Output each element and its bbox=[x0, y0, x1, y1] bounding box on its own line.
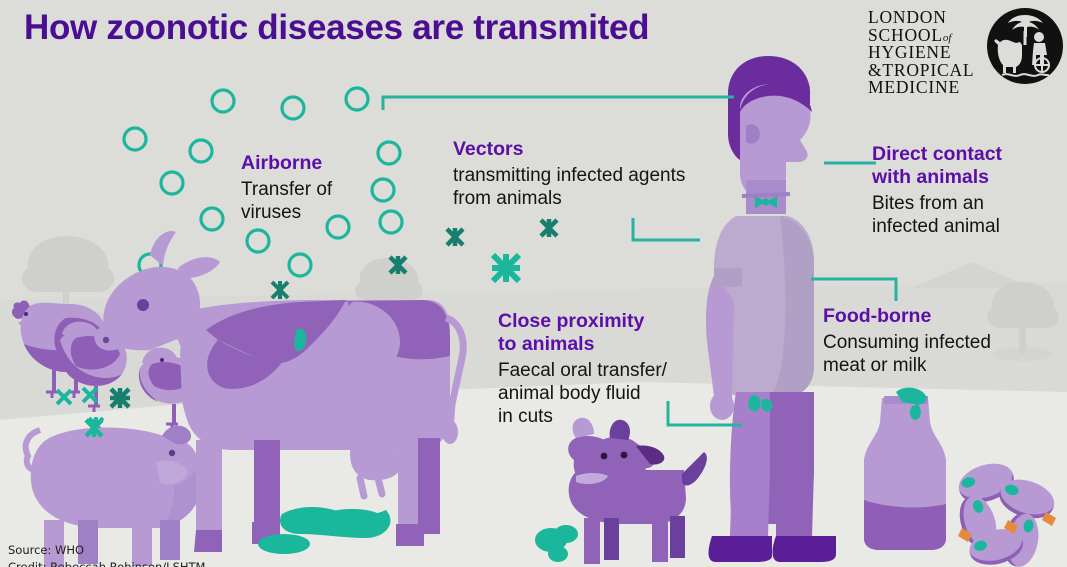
food-borne-body: Consuming infected meat or milk bbox=[823, 331, 991, 377]
label-block-airborne: Airborne Transfer of viruses bbox=[241, 152, 332, 224]
close-proximity-heading-line-1: Close proximity bbox=[498, 310, 667, 333]
label-block-close-proximity: Close proximity to animals Faecal oral t… bbox=[498, 310, 667, 429]
vectors-heading: Vectors bbox=[453, 138, 685, 161]
lshtm-logo-wordmark: LONDON SCHOOLof HYGIENE &TROPICAL MEDICI… bbox=[868, 9, 988, 97]
credits: Source: WHO Credit: Rebeccah Robinson/LS… bbox=[8, 542, 205, 567]
food-borne-heading: Food-borne bbox=[823, 305, 991, 328]
food-borne-body-line-2: meat or milk bbox=[823, 354, 991, 377]
logo-line-3: HYGIENE bbox=[868, 44, 988, 62]
label-block-vectors: Vectors transmitting infected agents fro… bbox=[453, 138, 685, 210]
source-line: Source: WHO bbox=[8, 542, 205, 559]
close-proximity-body-line-2: animal body fluid bbox=[498, 382, 667, 405]
lshtm-crest-icon bbox=[986, 7, 1064, 85]
direct-contact-heading-line-2: with animals bbox=[872, 166, 1002, 189]
close-proximity-body: Faecal oral transfer/ animal body fluid … bbox=[498, 359, 667, 429]
label-block-direct-contact: Direct contact with animals Bites from a… bbox=[872, 143, 1002, 238]
page-title: How zoonotic diseases are transmited bbox=[24, 8, 649, 48]
airborne-body-line-2: viruses bbox=[241, 201, 332, 224]
airborne-body: Transfer of viruses bbox=[241, 178, 332, 224]
label-block-food-borne: Food-borne Consuming infected meat or mi… bbox=[823, 305, 991, 377]
infographic-root: How zoonotic diseases are transmited Air… bbox=[0, 0, 1067, 567]
direct-contact-body-line-1: Bites from an bbox=[872, 192, 1002, 215]
airborne-heading: Airborne bbox=[241, 152, 332, 175]
direct-contact-body-line-2: infected animal bbox=[872, 215, 1002, 238]
credit-line: Credit: Rebeccah Robinson/LSHTM bbox=[8, 559, 205, 567]
vectors-body-line-2: from animals bbox=[453, 187, 685, 210]
close-proximity-heading: Close proximity to animals bbox=[498, 310, 667, 356]
direct-contact-heading-line-1: Direct contact bbox=[872, 143, 1002, 166]
lshtm-logo: LONDON SCHOOLof HYGIENE &TROPICAL MEDICI… bbox=[868, 5, 1064, 105]
direct-contact-body: Bites from an infected animal bbox=[872, 192, 1002, 238]
close-proximity-body-line-1: Faecal oral transfer/ bbox=[498, 359, 667, 382]
close-proximity-body-line-3: in cuts bbox=[498, 405, 667, 428]
vectors-body: transmitting infected agents from animal… bbox=[453, 164, 685, 210]
logo-line-5: MEDICINE bbox=[868, 79, 988, 97]
vectors-body-line-1: transmitting infected agents bbox=[453, 164, 685, 187]
direct-contact-heading: Direct contact with animals bbox=[872, 143, 1002, 189]
close-proximity-heading-line-2: to animals bbox=[498, 333, 667, 356]
airborne-body-line-1: Transfer of bbox=[241, 178, 332, 201]
food-borne-body-line-1: Consuming infected bbox=[823, 331, 991, 354]
